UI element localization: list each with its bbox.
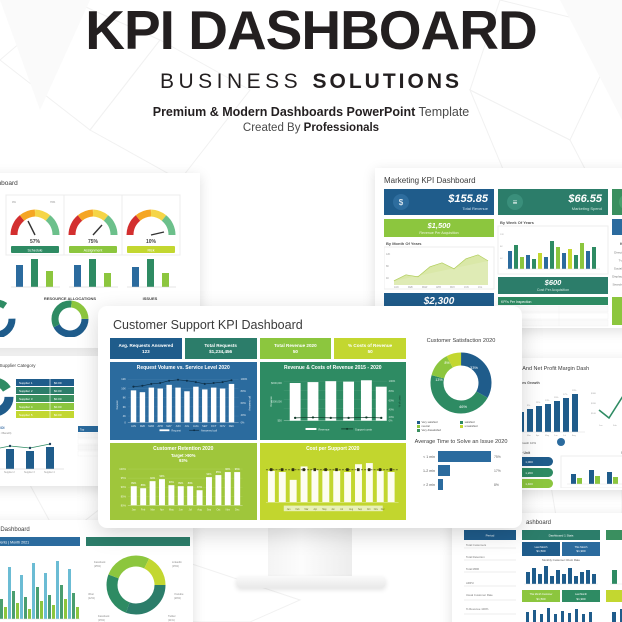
svg-text:LinkedIn: LinkedIn bbox=[172, 560, 182, 564]
svg-text:Monthly Customer Churn Rate: Monthly Customer Churn Rate bbox=[542, 558, 580, 562]
svg-text:20%: 20% bbox=[388, 416, 394, 419]
legend-item-neutral: neutral bbox=[417, 425, 456, 428]
svg-text:Revenue: Revenue bbox=[268, 396, 272, 407]
dashboard-body: Avg. Requests Answered 123 Total Request… bbox=[110, 338, 510, 520]
svg-text:89%: 89% bbox=[178, 482, 184, 485]
svg-text:57%: 57% bbox=[30, 239, 41, 245]
subtitle-solutions: SOLUTIONS bbox=[313, 70, 463, 93]
svg-text:$30K: $30K bbox=[591, 393, 597, 395]
panel-customer-retention[interactable]: Customer Retention 2020 Target >90% 93% bbox=[110, 443, 257, 520]
svg-text:ISSUES: ISSUES bbox=[143, 296, 158, 301]
svg-text:$0.00: $0.00 bbox=[54, 397, 62, 401]
svg-text:Tv: Tv bbox=[619, 259, 622, 263]
page-header: KPI DASHBOARD BUSINESS SOLUTIONS Premium… bbox=[0, 0, 622, 134]
time-bar-track bbox=[438, 451, 491, 462]
time-bar-label: > 2 min bbox=[414, 483, 435, 487]
svg-text:OCT: OCT bbox=[211, 425, 217, 428]
svg-text:KPI's Per Inspection: KPI's Per Inspection bbox=[501, 300, 532, 304]
svg-text:Jan: Jan bbox=[286, 508, 290, 511]
svg-text:Jun: Jun bbox=[179, 508, 184, 511]
svg-text:9%: 9% bbox=[527, 405, 530, 407]
svg-text:$1,500: $1,500 bbox=[536, 549, 546, 553]
svg-text:Jul: Jul bbox=[189, 508, 193, 511]
svg-text:$0.00: $0.00 bbox=[54, 389, 62, 393]
svg-text:ARPU: ARPU bbox=[466, 581, 474, 585]
time-bar-pct: 8% bbox=[494, 483, 507, 487]
svg-text:80%: 80% bbox=[241, 391, 247, 394]
kpi-card-row: Avg. Requests Answered 123 Total Request… bbox=[110, 338, 406, 359]
svg-text:4K: 4K bbox=[123, 415, 126, 418]
svg-text:12K: 12K bbox=[500, 234, 504, 236]
svg-text:Feb: Feb bbox=[141, 508, 146, 511]
svg-text:Assignment: Assignment bbox=[84, 249, 103, 253]
svg-text:RESOURCE ALLOCATIONS: RESOURCE ALLOCATIONS bbox=[44, 296, 97, 301]
svg-text:Last Month: Last Month bbox=[575, 593, 587, 596]
svg-text:88%: 88% bbox=[141, 484, 147, 487]
svg-text:Facebook: Facebook bbox=[94, 560, 106, 564]
svg-text:Mar: Mar bbox=[527, 434, 531, 437]
svg-text:Support costs: Support costs bbox=[355, 428, 373, 432]
subtitle-business: BUSINESS bbox=[160, 70, 302, 93]
svg-text:(12%): (12%) bbox=[88, 596, 95, 600]
svg-text:Mar: Mar bbox=[304, 508, 308, 511]
svg-text:Supplier 4: Supplier 4 bbox=[19, 405, 33, 409]
kpi-value: 50 bbox=[334, 349, 406, 354]
time-bar-row-under-1min: < 1 min 75% bbox=[414, 451, 507, 462]
svg-text:60%: 60% bbox=[388, 400, 394, 403]
svg-text:94%: 94% bbox=[207, 473, 213, 476]
svg-text:Supplier 1: Supplier 1 bbox=[19, 381, 33, 385]
svg-text:Request: Request bbox=[116, 401, 119, 410]
chart-customer-satisfaction: 33% 46% 13% 8% bbox=[422, 347, 500, 419]
svg-text:6K: 6K bbox=[123, 406, 126, 409]
svg-text:$600: $600 bbox=[544, 278, 563, 287]
svg-text:13%: 13% bbox=[435, 378, 443, 382]
legend-item-very-satisfied: Very satisfied bbox=[417, 421, 456, 424]
page-subtitle: BUSINESS SOLUTIONS bbox=[0, 70, 622, 94]
svg-text:$0.00: $0.00 bbox=[54, 381, 62, 385]
panel-title: Cost per Support 2020 bbox=[262, 446, 405, 452]
time-bar-track bbox=[438, 465, 491, 476]
time-bar-pct: 17% bbox=[494, 469, 507, 473]
svg-text:Schedule: Schedule bbox=[28, 249, 43, 253]
svg-text:FEB: FEB bbox=[140, 425, 145, 428]
svg-text:40%: 40% bbox=[388, 409, 394, 412]
svg-text:MAR: MAR bbox=[148, 425, 154, 428]
page-title: KPI DASHBOARD bbox=[0, 3, 622, 58]
svg-text:60%: 60% bbox=[241, 402, 247, 405]
svg-text:MAY: MAY bbox=[166, 425, 172, 428]
svg-text:% Revenue 100%: % Revenue 100% bbox=[466, 607, 489, 611]
chart-column-left: Request Volume vs. Service Level 2020 bbox=[110, 362, 257, 520]
svg-text:May: May bbox=[545, 435, 550, 437]
svg-text:Display: Display bbox=[612, 275, 622, 279]
svg-text:By Week Of Years: By Week Of Years bbox=[500, 220, 535, 225]
svg-text:Marketing Spend: Marketing Spend bbox=[572, 206, 602, 211]
svg-text:Nov: Nov bbox=[226, 508, 231, 511]
svg-text:Dec: Dec bbox=[235, 508, 240, 511]
svg-text:Supplier 3: Supplier 3 bbox=[24, 471, 35, 474]
kpi-card-avg-requests[interactable]: Avg. Requests Answered 123 bbox=[110, 338, 182, 359]
time-bars: < 1 min 75% 1-2 min 17% > 2 min 8% bbox=[412, 446, 510, 490]
svg-text:Twitter: Twitter bbox=[168, 614, 176, 618]
thumbnail-general-dashboard[interactable]: ashboard Period Total Customers Total Re… bbox=[452, 513, 622, 622]
monitor-neck bbox=[268, 527, 352, 582]
svg-text:96%: 96% bbox=[235, 468, 241, 471]
svg-text:Dec: Dec bbox=[380, 508, 385, 511]
time-to-solve-title: Average Time to Solve an Issue 2020 bbox=[412, 439, 510, 447]
svg-text:80%: 80% bbox=[388, 391, 394, 394]
svg-text:APR: APR bbox=[436, 286, 441, 289]
svg-text:JUL: JUL bbox=[185, 425, 190, 428]
svg-text:8K: 8K bbox=[123, 397, 126, 400]
legend-item-very-dissatisfied: Very dissatisfied bbox=[417, 429, 501, 432]
chart-cost-per-support: JanFebMar AprMayJun JulAugSep OctNovDec bbox=[262, 453, 405, 513]
svg-text:Feb: Feb bbox=[613, 425, 618, 427]
svg-text:Supplier 3: Supplier 3 bbox=[19, 397, 33, 401]
svg-text:Sep: Sep bbox=[207, 508, 212, 511]
svg-text:(15%): (15%) bbox=[172, 564, 179, 568]
panel-revenue-costs[interactable]: Revenue & Costs of Revenue 2015 - 2020 bbox=[260, 362, 407, 440]
panel-title: Revenue & Costs of Revenue 2015 - 2020 bbox=[262, 365, 405, 371]
time-bar-label: 1-2 min bbox=[414, 469, 435, 473]
satisfaction-title: Customer Satisfaction 2020 bbox=[412, 338, 510, 346]
panel-request-volume[interactable]: Request Volume vs. Service Level 2020 bbox=[110, 362, 257, 440]
svg-text:Feb: Feb bbox=[295, 508, 300, 511]
svg-text:JUN: JUN bbox=[464, 286, 469, 289]
svg-text:90%: 90% bbox=[121, 485, 127, 489]
monitor-base bbox=[236, 576, 386, 588]
svg-text:$0.00: $0.00 bbox=[54, 405, 62, 409]
svg-text:Apr: Apr bbox=[313, 508, 317, 511]
svg-text:85%: 85% bbox=[121, 494, 127, 498]
svg-text:4K: 4K bbox=[386, 277, 389, 280]
svg-text:$1,500: $1,500 bbox=[427, 221, 452, 230]
panel-title: Request Volume vs. Service Level 2020 bbox=[112, 365, 255, 371]
tagline-bold: Premium & Modern Dashboards PowerPoint bbox=[153, 105, 416, 119]
svg-text:SEP: SEP bbox=[202, 425, 207, 428]
svg-text:MAY: MAY bbox=[450, 286, 455, 289]
svg-text:Apr: Apr bbox=[536, 434, 540, 437]
svg-text:Supplier 4: Supplier 4 bbox=[44, 471, 55, 474]
svg-text:Oct: Oct bbox=[366, 508, 370, 511]
svg-text:Procurement ROI: Procurement ROI bbox=[0, 426, 5, 430]
svg-text:96%: 96% bbox=[225, 468, 231, 471]
svg-text:Total Retention: Total Retention bbox=[466, 555, 485, 559]
svg-text:Jul: Jul bbox=[563, 435, 566, 437]
svg-text:Jan: Jan bbox=[599, 425, 603, 427]
svg-text:Jun: Jun bbox=[331, 508, 335, 511]
svg-text:Jul: Jul bbox=[340, 508, 343, 511]
svg-text:$1,500: $1,500 bbox=[536, 597, 546, 601]
svg-text:$600,000: $600,000 bbox=[271, 382, 282, 385]
svg-text:Jun: Jun bbox=[554, 435, 558, 437]
svg-text:JAN: JAN bbox=[131, 425, 136, 428]
svg-text:89%: 89% bbox=[188, 482, 194, 485]
svg-text:80%: 80% bbox=[121, 503, 127, 507]
time-bar-row-1-2min: 1-2 min 17% bbox=[414, 465, 507, 476]
time-bar-row-over-2min: > 2 min 8% bbox=[414, 479, 507, 490]
svg-text:10%: 10% bbox=[146, 239, 157, 245]
svg-text:APR: APR bbox=[158, 425, 163, 428]
svg-text:0%: 0% bbox=[241, 422, 246, 425]
thumbnail-title: ashboard bbox=[526, 520, 622, 526]
svg-text:(20%): (20%) bbox=[174, 596, 181, 600]
svg-text:89%: 89% bbox=[131, 482, 137, 485]
donut-chart-wrapper: 33% 46% 13% 8% bbox=[412, 347, 510, 419]
svg-text:Supplier 2: Supplier 2 bbox=[19, 389, 33, 393]
monitor-screen: Customer Support KPI Dashboard Avg. Requ… bbox=[98, 306, 522, 528]
svg-text:1,000: 1,000 bbox=[525, 460, 533, 464]
svg-text:NOV: NOV bbox=[220, 425, 226, 428]
svg-text:100%: 100% bbox=[241, 379, 248, 382]
svg-text:1,200: 1,200 bbox=[525, 471, 533, 475]
svg-text:13%: 13% bbox=[545, 400, 549, 402]
svg-text:$20K: $20K bbox=[591, 403, 597, 405]
svg-text:Revenue Per Acquisition: Revenue Per Acquisition bbox=[419, 231, 458, 235]
svg-text:Usual Customer Rate: Usual Customer Rate bbox=[466, 593, 493, 597]
svg-text:(15%): (15%) bbox=[98, 618, 105, 622]
svg-text:Risk: Risk bbox=[148, 249, 155, 253]
svg-text:1,400: 1,400 bbox=[525, 482, 533, 486]
svg-text:Viber: Viber bbox=[88, 592, 94, 596]
svg-text:Mar: Mar bbox=[150, 508, 154, 511]
svg-text:Request: Request bbox=[171, 430, 181, 433]
time-bar-pct: 75% bbox=[494, 455, 507, 459]
svg-text:8%: 8% bbox=[445, 361, 450, 365]
thumbnail-title: Reduction by Supplier Category bbox=[0, 363, 108, 368]
svg-text:By Month Of Years: By Month Of Years bbox=[386, 241, 422, 246]
svg-text:JUN: JUN bbox=[176, 425, 181, 428]
svg-text:$155.85: $155.85 bbox=[447, 193, 489, 205]
svg-text:Total Customers: Total Customers bbox=[466, 543, 487, 547]
svg-text:(11%): (11%) bbox=[168, 618, 175, 622]
svg-text:Facebook: Facebook bbox=[98, 614, 110, 618]
svg-text:87%: 87% bbox=[197, 486, 203, 489]
legend-item-unsatisfied: unsatisfied bbox=[460, 425, 499, 428]
thumbnail-title: Marketing KPI Dashboard bbox=[384, 176, 622, 185]
thumbnail-title: PI Dashboard bbox=[0, 180, 192, 187]
svg-text:Dashboard 1 Stats: Dashboard 1 Stats bbox=[549, 534, 574, 538]
svg-text:$1,900: $1,900 bbox=[576, 597, 586, 601]
svg-text:DEC: DEC bbox=[229, 425, 235, 428]
social-events-label: cial Media Events | Month 2021 bbox=[0, 541, 29, 545]
svg-text:May: May bbox=[322, 508, 327, 511]
kpi-value: $1,234,456 bbox=[185, 349, 257, 354]
svg-text:JUL: JUL bbox=[478, 286, 483, 289]
svg-text:15%: 15% bbox=[554, 397, 558, 399]
svg-text:Supplier 5: Supplier 5 bbox=[19, 413, 33, 417]
chart-panel-grid: Request Volume vs. Service Level 2020 bbox=[110, 362, 406, 520]
svg-text:Aug: Aug bbox=[197, 508, 202, 511]
svg-text:≡: ≡ bbox=[513, 198, 518, 207]
panel-title: Customer Retention 2020 bbox=[112, 446, 255, 452]
kpi-value: 50 bbox=[260, 349, 332, 354]
svg-text:17%: 17% bbox=[563, 394, 567, 396]
svg-text:95%: 95% bbox=[216, 471, 222, 474]
svg-text:10K: 10K bbox=[121, 388, 126, 391]
svg-text:This Month Customer: This Month Customer bbox=[530, 593, 553, 596]
chart-customer-retention: 89%88%92% 93%90%89% 89%87%94% 95%96%96% … bbox=[112, 463, 255, 515]
panel-cost-per-support[interactable]: Cost per Support 2020 bbox=[260, 443, 407, 520]
tagline-light: Template bbox=[419, 105, 470, 119]
kpi-value: 123 bbox=[110, 349, 182, 354]
thumbnail-marketing-kpi-dashboard[interactable]: Marketing KPI Dashboard $ $155.85 Total … bbox=[375, 168, 622, 328]
chart-revenue-costs: $600,000$300,000$50 100%80% 60%40% 20%0%… bbox=[262, 372, 405, 433]
svg-text:70%: 70% bbox=[50, 200, 56, 204]
svg-text:(Cost Of Procurement / Benefit: (Cost Of Procurement / Benefit) bbox=[0, 431, 11, 435]
svg-text:Answered call: Answered call bbox=[201, 430, 217, 433]
svg-text:8K: 8K bbox=[386, 265, 389, 268]
svg-text:19%: 19% bbox=[572, 390, 576, 392]
dashboard-title: Customer Support KPI Dashboard bbox=[113, 318, 510, 332]
kpi-card-total-requests[interactable]: Total Requests $1,234,456 bbox=[185, 338, 257, 359]
svg-text:92%: 92% bbox=[150, 477, 156, 480]
svg-text:Total Revenue: Total Revenue bbox=[462, 206, 488, 211]
svg-text:46%: 46% bbox=[459, 404, 467, 409]
svg-text:100%: 100% bbox=[119, 467, 126, 471]
svg-text:Aug: Aug bbox=[349, 508, 354, 511]
svg-text:$0.00: $0.00 bbox=[54, 413, 62, 417]
kpi-card-costs-of-revenue[interactable]: % Costs of Revenue 50 bbox=[334, 338, 406, 359]
svg-text:Answered call: Answered call bbox=[248, 396, 251, 411]
svg-text:Apr: Apr bbox=[160, 508, 164, 511]
svg-text:75%: 75% bbox=[88, 239, 99, 245]
svg-text:$1,900: $1,900 bbox=[576, 549, 586, 553]
svg-text:12K: 12K bbox=[386, 253, 391, 256]
svg-text:% of costs: % of costs bbox=[397, 395, 401, 407]
svg-text:Search: Search bbox=[612, 283, 622, 287]
svg-text:Youtube: Youtube bbox=[174, 592, 184, 596]
svg-text:MAR: MAR bbox=[422, 286, 428, 289]
svg-text:95%: 95% bbox=[121, 476, 127, 480]
svg-text:0%: 0% bbox=[388, 420, 393, 423]
svg-text:100%: 100% bbox=[388, 380, 395, 383]
svg-text:40%: 40% bbox=[241, 414, 247, 417]
svg-text:Direct: Direct bbox=[614, 251, 622, 255]
svg-text:Social: Social bbox=[614, 267, 622, 271]
svg-text:Total MRR: Total MRR bbox=[466, 567, 479, 571]
svg-text:May: May bbox=[169, 508, 174, 511]
svg-text:Period: Period bbox=[486, 534, 495, 538]
svg-text:Sep: Sep bbox=[357, 508, 362, 511]
byline: Created By Professionals bbox=[0, 122, 622, 134]
chart-request-volume: 12K10K8K 6K4K0 100%80% 60%40%0% JANFEBMA… bbox=[112, 372, 255, 433]
svg-text:Revenue: Revenue bbox=[318, 428, 330, 432]
time-bar-track bbox=[438, 479, 491, 490]
svg-text:$66.55: $66.55 bbox=[567, 193, 603, 205]
chart-column-right: Revenue & Costs of Revenue 2015 - 2020 bbox=[260, 362, 407, 520]
svg-text:Supplier 2: Supplier 2 bbox=[4, 471, 15, 474]
byline-bold: Professionals bbox=[304, 122, 379, 134]
svg-text:Oct: Oct bbox=[216, 508, 220, 511]
svg-text:$10K: $10K bbox=[591, 413, 597, 415]
svg-text:FEB: FEB bbox=[408, 286, 413, 289]
tagline: Premium & Modern Dashboards PowerPoint T… bbox=[0, 105, 622, 119]
svg-text:AUG: AUG bbox=[193, 425, 199, 428]
svg-text:Cost Per Acquisition: Cost Per Acquisition bbox=[537, 288, 569, 292]
svg-text:$: $ bbox=[399, 198, 404, 207]
svg-text:33%: 33% bbox=[470, 365, 478, 370]
svg-text:12K: 12K bbox=[121, 379, 126, 382]
svg-text:0: 0 bbox=[124, 422, 126, 425]
svg-text:90%: 90% bbox=[169, 481, 175, 484]
time-bar-label: < 1 min bbox=[414, 455, 435, 459]
donut-legend: Very satisfied satisfied neutral unsatis… bbox=[412, 419, 510, 432]
legend-item-satisfied: satisfied bbox=[460, 421, 499, 424]
thumbnail-social-media-dashboard[interactable]: al Media Dashboard cial Media Events | M… bbox=[0, 520, 193, 622]
svg-text:93%: 93% bbox=[160, 475, 166, 478]
byline-light: Created By bbox=[243, 122, 301, 134]
svg-text:(25%): (25%) bbox=[94, 564, 101, 568]
svg-text:11%: 11% bbox=[536, 402, 540, 404]
svg-text:Jan: Jan bbox=[132, 508, 137, 511]
svg-text:Top: Top bbox=[80, 428, 85, 432]
dashboard-right-column: Customer Satisfaction 2020 33% 46% 13% 8… bbox=[412, 338, 510, 520]
svg-text:Aug: Aug bbox=[572, 434, 577, 437]
svg-text:JAN: JAN bbox=[394, 286, 399, 289]
kpi-card-total-revenue[interactable]: Total Revenue 2020 50 bbox=[260, 338, 332, 359]
svg-text:$50: $50 bbox=[277, 420, 282, 423]
dashboard-left-column: Avg. Requests Answered 123 Total Request… bbox=[110, 338, 406, 520]
